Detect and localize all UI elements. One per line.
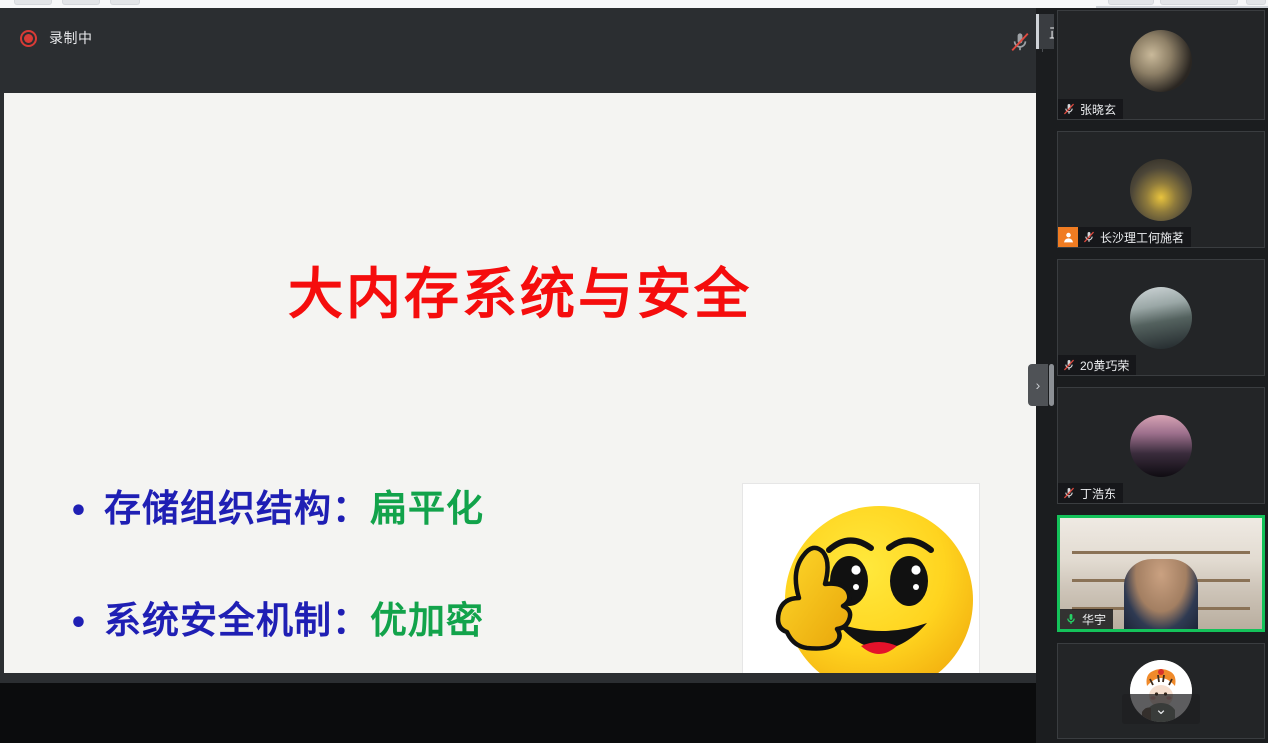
participant-tile[interactable]: 张晓玄 (1057, 10, 1265, 120)
flower-photo-avatar (1130, 159, 1192, 221)
meeting-window: 录制中 正在讲话: 华宇; 大内存系统与安全 • (0, 0, 1268, 743)
os-chip[interactable] (1160, 0, 1238, 5)
participant-name: 20黄巧荣 (1080, 357, 1129, 374)
bullet-2-value: 优加密 (370, 590, 484, 644)
bullet-2-key: 系统安全机制： (104, 590, 370, 644)
record-dot-icon (20, 30, 37, 47)
participant-tile[interactable]: 长沙理工何施茗 (1057, 131, 1265, 248)
bullet-1-value: 扁平化 (370, 478, 484, 532)
participant-name: 华宇 (1082, 611, 1106, 628)
participant-tile[interactable]: 丁浩东 (1057, 387, 1265, 504)
participant-tile-active-speaker[interactable]: 华宇 (1057, 515, 1265, 632)
stage-bottom-band (0, 683, 1036, 743)
recording-label: 录制中 (49, 28, 93, 48)
os-chip[interactable] (62, 0, 100, 5)
city-skyline-photo-avatar (1130, 415, 1192, 477)
participant-name: 张晓玄 (1080, 101, 1116, 118)
speaker-silhouette (1124, 559, 1198, 629)
mic-muted-icon (1078, 230, 1100, 244)
os-chip[interactable] (110, 0, 140, 5)
os-chip[interactable] (1246, 0, 1266, 5)
os-chip[interactable] (14, 0, 52, 5)
participant-name-chip: 张晓玄 (1058, 99, 1123, 119)
mic-muted-icon (1058, 358, 1080, 372)
cat-photo-avatar (1130, 30, 1192, 92)
shared-screen-stage: 大内存系统与安全 • 存储组织结构： 扁平化 • 系统安全机制： 优加密 (0, 93, 1036, 683)
os-chip[interactable] (1108, 0, 1154, 5)
mic-muted-icon (1058, 102, 1080, 116)
shelf-decor (1072, 551, 1250, 554)
bullet-1-key: 存储组织结构： (104, 478, 370, 532)
bullet-marker-icon: • (54, 494, 104, 529)
participant-tile[interactable]: 20黄巧荣 (1057, 259, 1265, 376)
top-recording-bar: 录制中 (0, 8, 1036, 93)
scroll-down-button[interactable]: ⌄ (1122, 694, 1200, 724)
participant-name-chip: 长沙理工何施茗 (1058, 227, 1191, 247)
smiley-thumbs-up-image (743, 484, 979, 673)
os-chrome-strip (0, 0, 1268, 8)
filmstrip-collapse-handle[interactable]: › (1028, 364, 1048, 406)
slide-title: 大内存系统与安全 (4, 249, 1036, 329)
slide-bullet-2: • 系统安全机制： 优加密 (54, 590, 484, 644)
slide-bullet-1: • 存储组织结构： 扁平化 (54, 478, 484, 532)
participant-name: 长沙理工何施茗 (1100, 229, 1184, 246)
mic-muted-icon[interactable] (1008, 30, 1032, 54)
participant-filmstrip[interactable]: 张晓玄 (1054, 8, 1268, 743)
participant-name-chip: 华宇 (1060, 609, 1113, 629)
participant-name-chip: 丁浩东 (1058, 483, 1123, 503)
participant-name: 丁浩东 (1080, 485, 1116, 502)
mic-muted-icon (1058, 486, 1080, 500)
presentation-slide: 大内存系统与安全 • 存储组织结构： 扁平化 • 系统安全机制： 优加密 (4, 93, 1036, 673)
recording-indicator: 录制中 (20, 28, 93, 48)
host-badge-icon (1058, 227, 1078, 247)
participant-name-chip: 20黄巧荣 (1058, 355, 1136, 375)
bullet-marker-icon: • (54, 606, 104, 641)
mic-active-icon (1060, 612, 1082, 626)
lakeside-photo-avatar (1130, 287, 1192, 349)
participant-tile[interactable]: ⌄ (1057, 643, 1265, 739)
